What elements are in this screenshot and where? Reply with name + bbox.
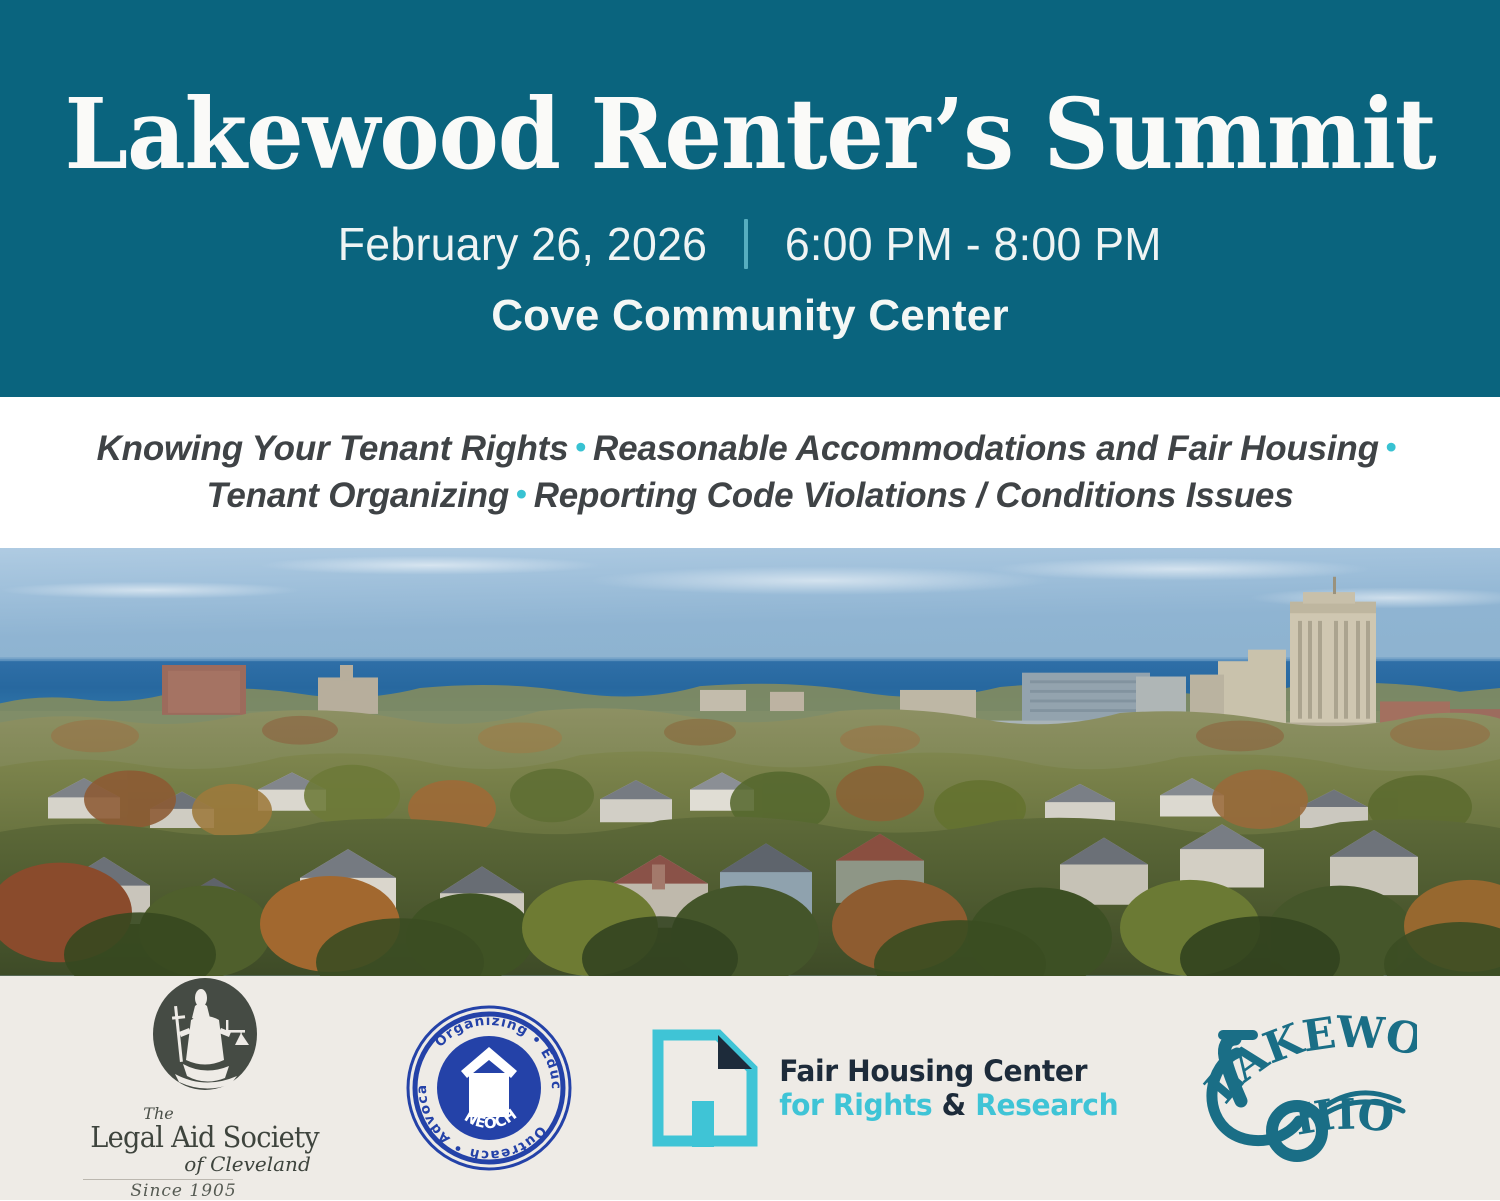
- aerial-photo-illustration: [0, 548, 1500, 976]
- logo-lakewood-ohio: LAKEWOOD HIO: [1201, 1009, 1417, 1167]
- fair-housing-research: Research: [966, 1088, 1118, 1122]
- legal-aid-wordmark: The Legal Aid Society of Cleveland Since…: [83, 1106, 326, 1200]
- fair-housing-line1: Fair Housing Center: [779, 1056, 1118, 1086]
- legal-aid-city: of Cleveland: [169, 1154, 326, 1174]
- legal-aid-since: Since 1905: [41, 1183, 326, 1200]
- vertical-divider: [744, 219, 748, 269]
- event-date: February 26, 2026: [338, 221, 708, 267]
- sponsor-logo-bar: The Legal Aid Society of Cleveland Since…: [0, 976, 1500, 1200]
- legal-aid-divider: [83, 1179, 233, 1180]
- page-title: Lakewood Renter’s Summit: [65, 86, 1436, 183]
- fair-housing-line2: for Rights & Research: [779, 1090, 1118, 1120]
- bullet-separator-icon: •: [568, 429, 593, 464]
- topics-line-1: Knowing Your Tenant Rights•Reasonable Ac…: [97, 426, 1404, 472]
- topic-tenant-rights: Knowing Your Tenant Rights: [97, 429, 569, 468]
- fair-housing-for-rights: for Rights: [779, 1088, 941, 1122]
- bullet-separator-icon: •: [509, 476, 534, 511]
- event-time: 6:00 PM - 8:00 PM: [785, 221, 1162, 267]
- topics-band: Knowing Your Tenant Rights•Reasonable Ac…: [0, 397, 1500, 549]
- event-venue: Cove Community Center: [491, 291, 1009, 341]
- lady-justice-icon: [149, 976, 261, 1112]
- topic-tenant-organizing: Tenant Organizing: [207, 476, 510, 515]
- neoch-seal-icon: Organizing • Education Outreach • Advoca…: [404, 1003, 574, 1173]
- date-time-row: February 26, 2026 6:00 PM - 8:00 PM: [332, 219, 1168, 269]
- topic-code-violations: Reporting Code Violations / Conditions I…: [534, 476, 1294, 515]
- lakewood-ohio-icon: LAKEWOOD HIO: [1201, 1009, 1417, 1167]
- bullet-separator-icon: •: [1379, 429, 1404, 464]
- fair-housing-wordmark: Fair Housing Center for Rights & Researc…: [774, 1056, 1123, 1120]
- logo-fair-housing-center: Fair Housing Center for Rights & Researc…: [652, 1029, 1123, 1147]
- logo-legal-aid-society: The Legal Aid Society of Cleveland Since…: [83, 976, 326, 1200]
- fair-housing-ampersand: &: [941, 1088, 965, 1122]
- svg-text:HIO: HIO: [1291, 1089, 1397, 1144]
- flyer-header: Lakewood Renter’s Summit February 26, 20…: [0, 0, 1500, 397]
- legal-aid-name: Legal Aid Society: [90, 1123, 319, 1152]
- topics-line-2: Tenant Organizing•Reporting Code Violati…: [207, 473, 1294, 519]
- logo-neoch: Organizing • Education Outreach • Advoca…: [404, 1003, 574, 1173]
- fair-housing-house-icon: [652, 1029, 758, 1147]
- aerial-photo: [0, 548, 1500, 976]
- topic-reasonable-accommodations: Reasonable Accommodations and Fair Housi…: [593, 429, 1379, 468]
- ohio-word: HIO: [1291, 1089, 1397, 1144]
- event-flyer: Lakewood Renter’s Summit February 26, 20…: [0, 0, 1500, 1200]
